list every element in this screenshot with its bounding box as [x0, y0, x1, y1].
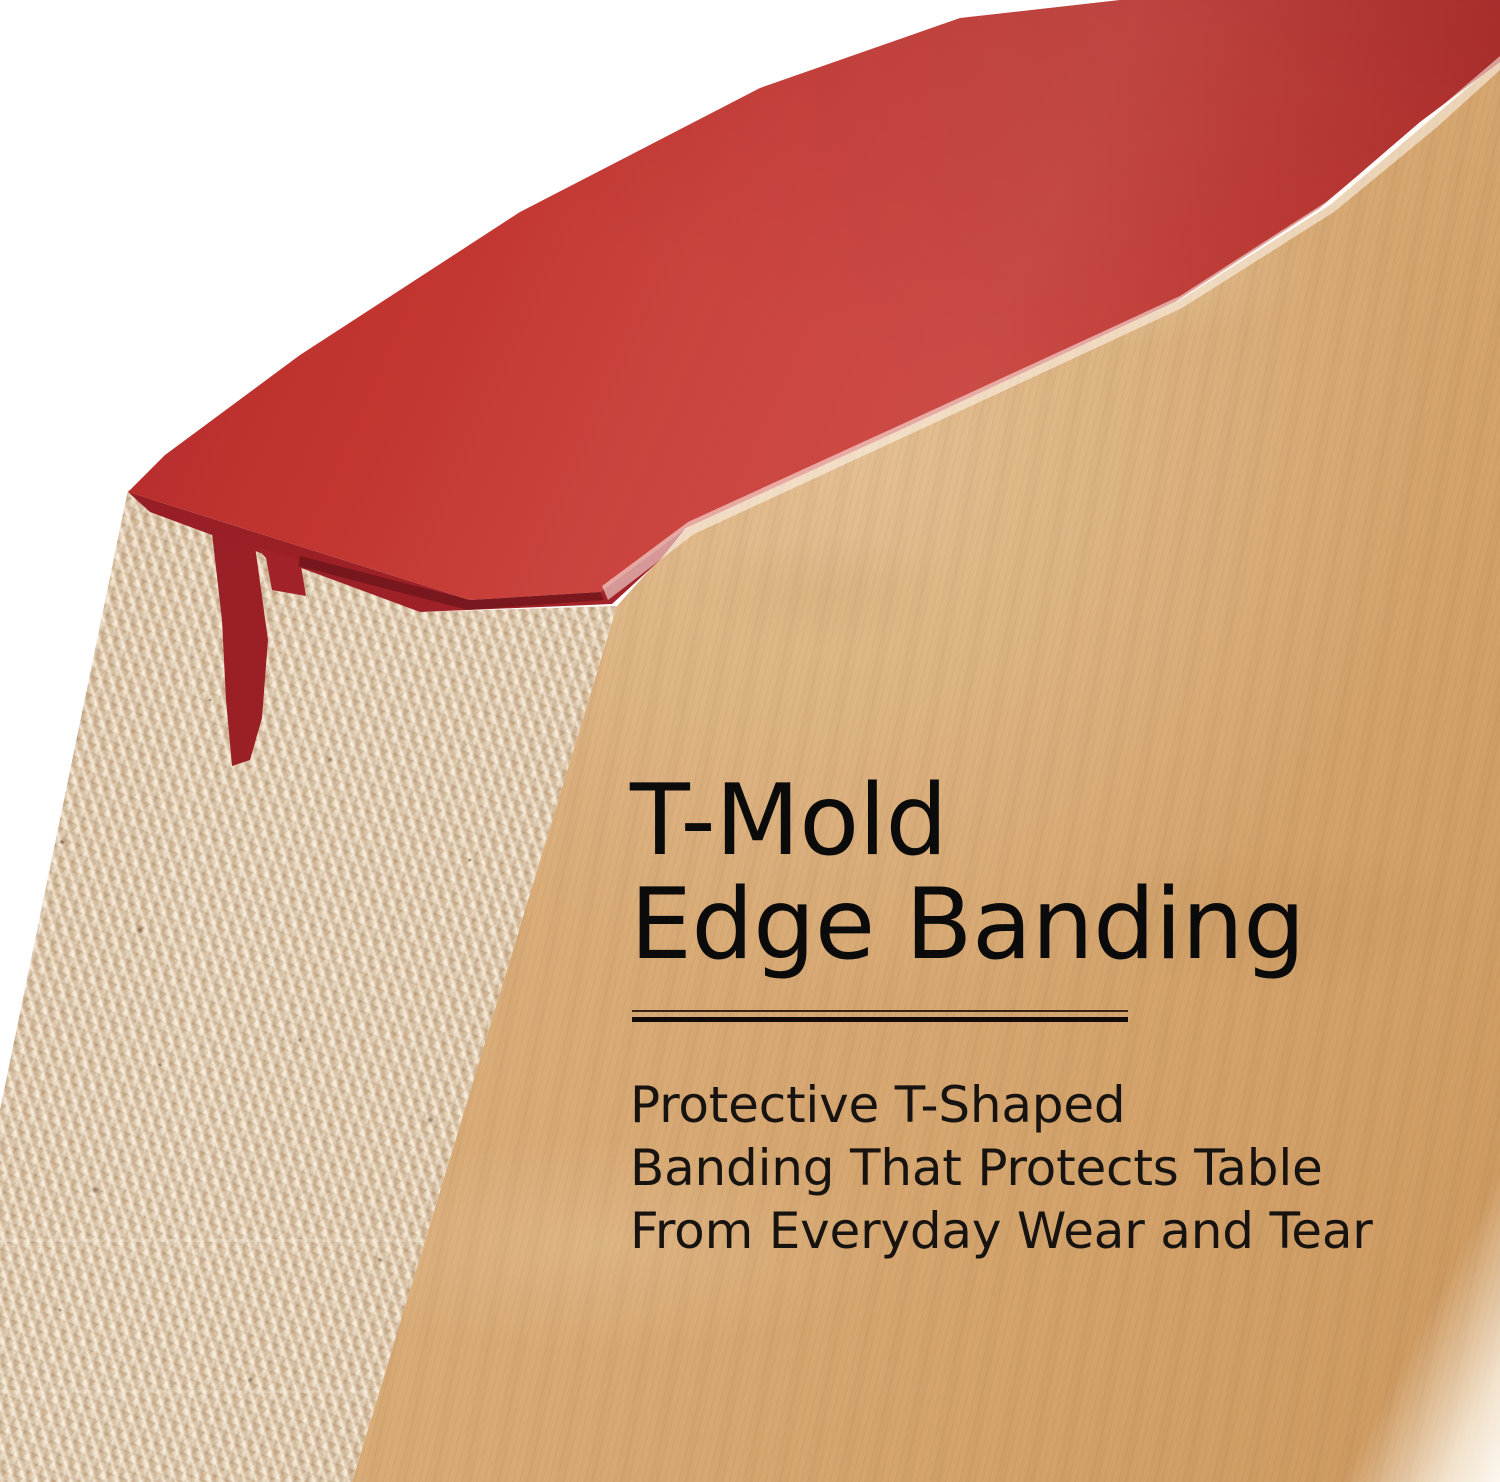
product-hero-image: T-Mold Edge Banding Protective T-Shaped …: [0, 0, 1500, 1482]
divider-rule: [632, 1010, 1128, 1024]
product-subcopy: Protective T-Shaped Banding That Protect…: [630, 1074, 1430, 1263]
divider-rule-bottom: [632, 1017, 1128, 1022]
product-headline: T-Mold Edge Banding: [630, 770, 1430, 978]
divider-rule-top: [632, 1010, 1128, 1012]
marketing-copy-block: T-Mold Edge Banding Protective T-Shaped …: [630, 770, 1430, 1263]
